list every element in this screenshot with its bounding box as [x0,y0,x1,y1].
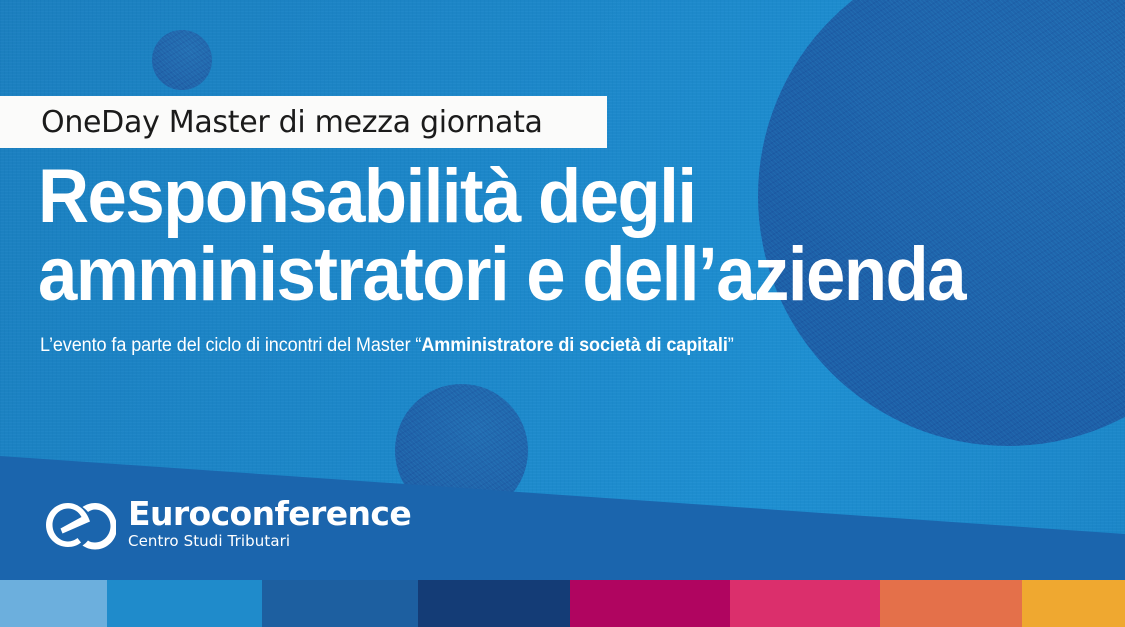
page-title: Responsabilità degli amministratori e de… [38,158,1024,314]
color-bar-segment-pink [730,580,880,627]
color-bar-segment-burgundy-magenta [570,580,730,627]
circle-grain-texture [152,30,212,90]
event-promo-banner: OneDay Master di mezza giornata Responsa… [0,0,1125,627]
subtitle-suffix: ” [728,335,734,356]
decorative-circle-small [152,30,212,90]
color-bar-segment-amber [1022,580,1125,627]
subtitle: L’evento fa parte del ciclo di incontri … [40,334,734,358]
color-bar-segment-sky-blue [107,580,262,627]
headline-line-2: amministratori e dell’azienda [38,236,1024,314]
euroconference-logo: Euroconference Centro Studi Tributari [42,497,411,551]
color-bar-segment-navy-blue [418,580,570,627]
subtitle-emphasis: Amministratore di società di capitali [421,335,727,356]
subtitle-prefix: L’evento fa parte del ciclo di incontri … [40,335,421,356]
eyebrow-label: OneDay Master di mezza giornata [41,105,543,140]
eyebrow-label-box: OneDay Master di mezza giornata [0,96,607,148]
color-bar-segment-steel-blue [262,580,418,627]
brand-color-bar [0,580,1125,627]
headline-line-1: Responsabilità degli [38,158,1024,236]
logo-tagline: Centro Studi Tributari [128,532,411,550]
color-bar-segment-orange [880,580,1022,627]
logo-wordmark: Euroconference Centro Studi Tributari [128,497,411,550]
ec-monogram-icon [42,499,116,551]
logo-name: Euroconference [128,497,411,531]
color-bar-segment-light-blue [0,580,107,627]
